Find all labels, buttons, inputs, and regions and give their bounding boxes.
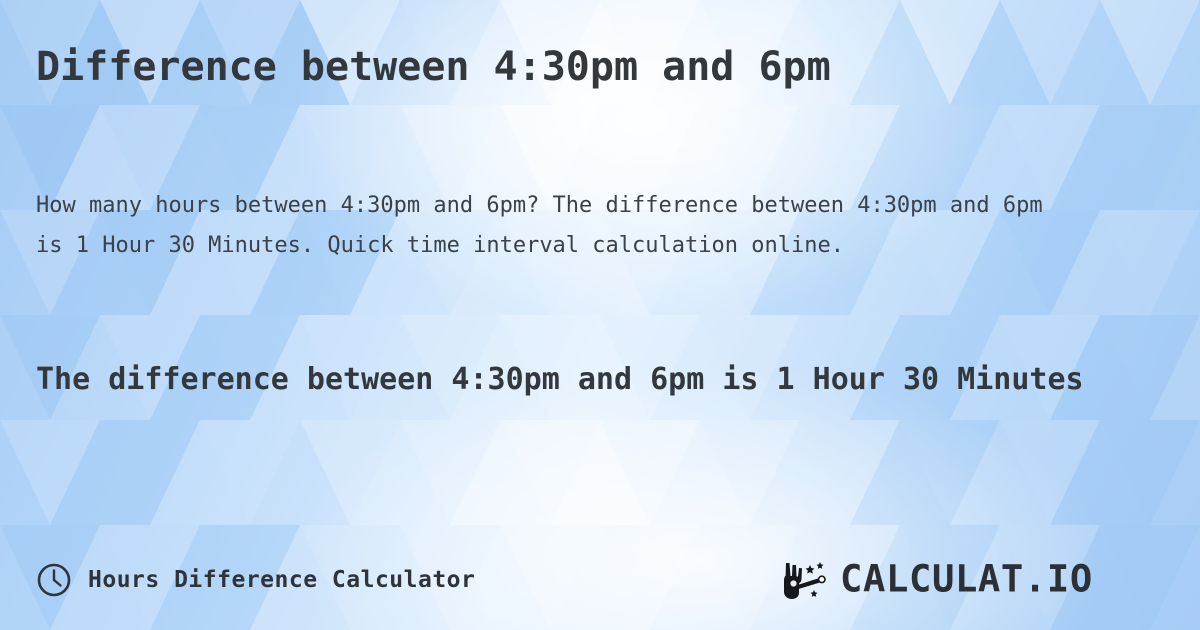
og-image-card: Difference between 4:30pm and 6pm How ma… xyxy=(0,0,1200,630)
clock-icon xyxy=(36,562,72,598)
page-title: Difference between 4:30pm and 6pm xyxy=(36,44,831,90)
calculatio-logo: CALCULAT.IO xyxy=(840,559,1176,601)
footer-calculator-label: Hours Difference Calculator xyxy=(88,567,475,593)
result-heading: The difference between 4:30pm and 6pm is… xyxy=(36,355,1171,405)
footer-branding-right: CALCULAT.IO xyxy=(776,559,1176,601)
calculatio-logo-text: CALCULAT.IO xyxy=(840,559,1093,600)
page-description: How many hours between 4:30pm and 6pm? T… xyxy=(36,186,1076,266)
footer-branding-left: Hours Difference Calculator xyxy=(36,562,475,598)
hand-magic-wand-icon xyxy=(776,559,834,601)
footer: Hours Difference Calculator xyxy=(0,556,1200,604)
